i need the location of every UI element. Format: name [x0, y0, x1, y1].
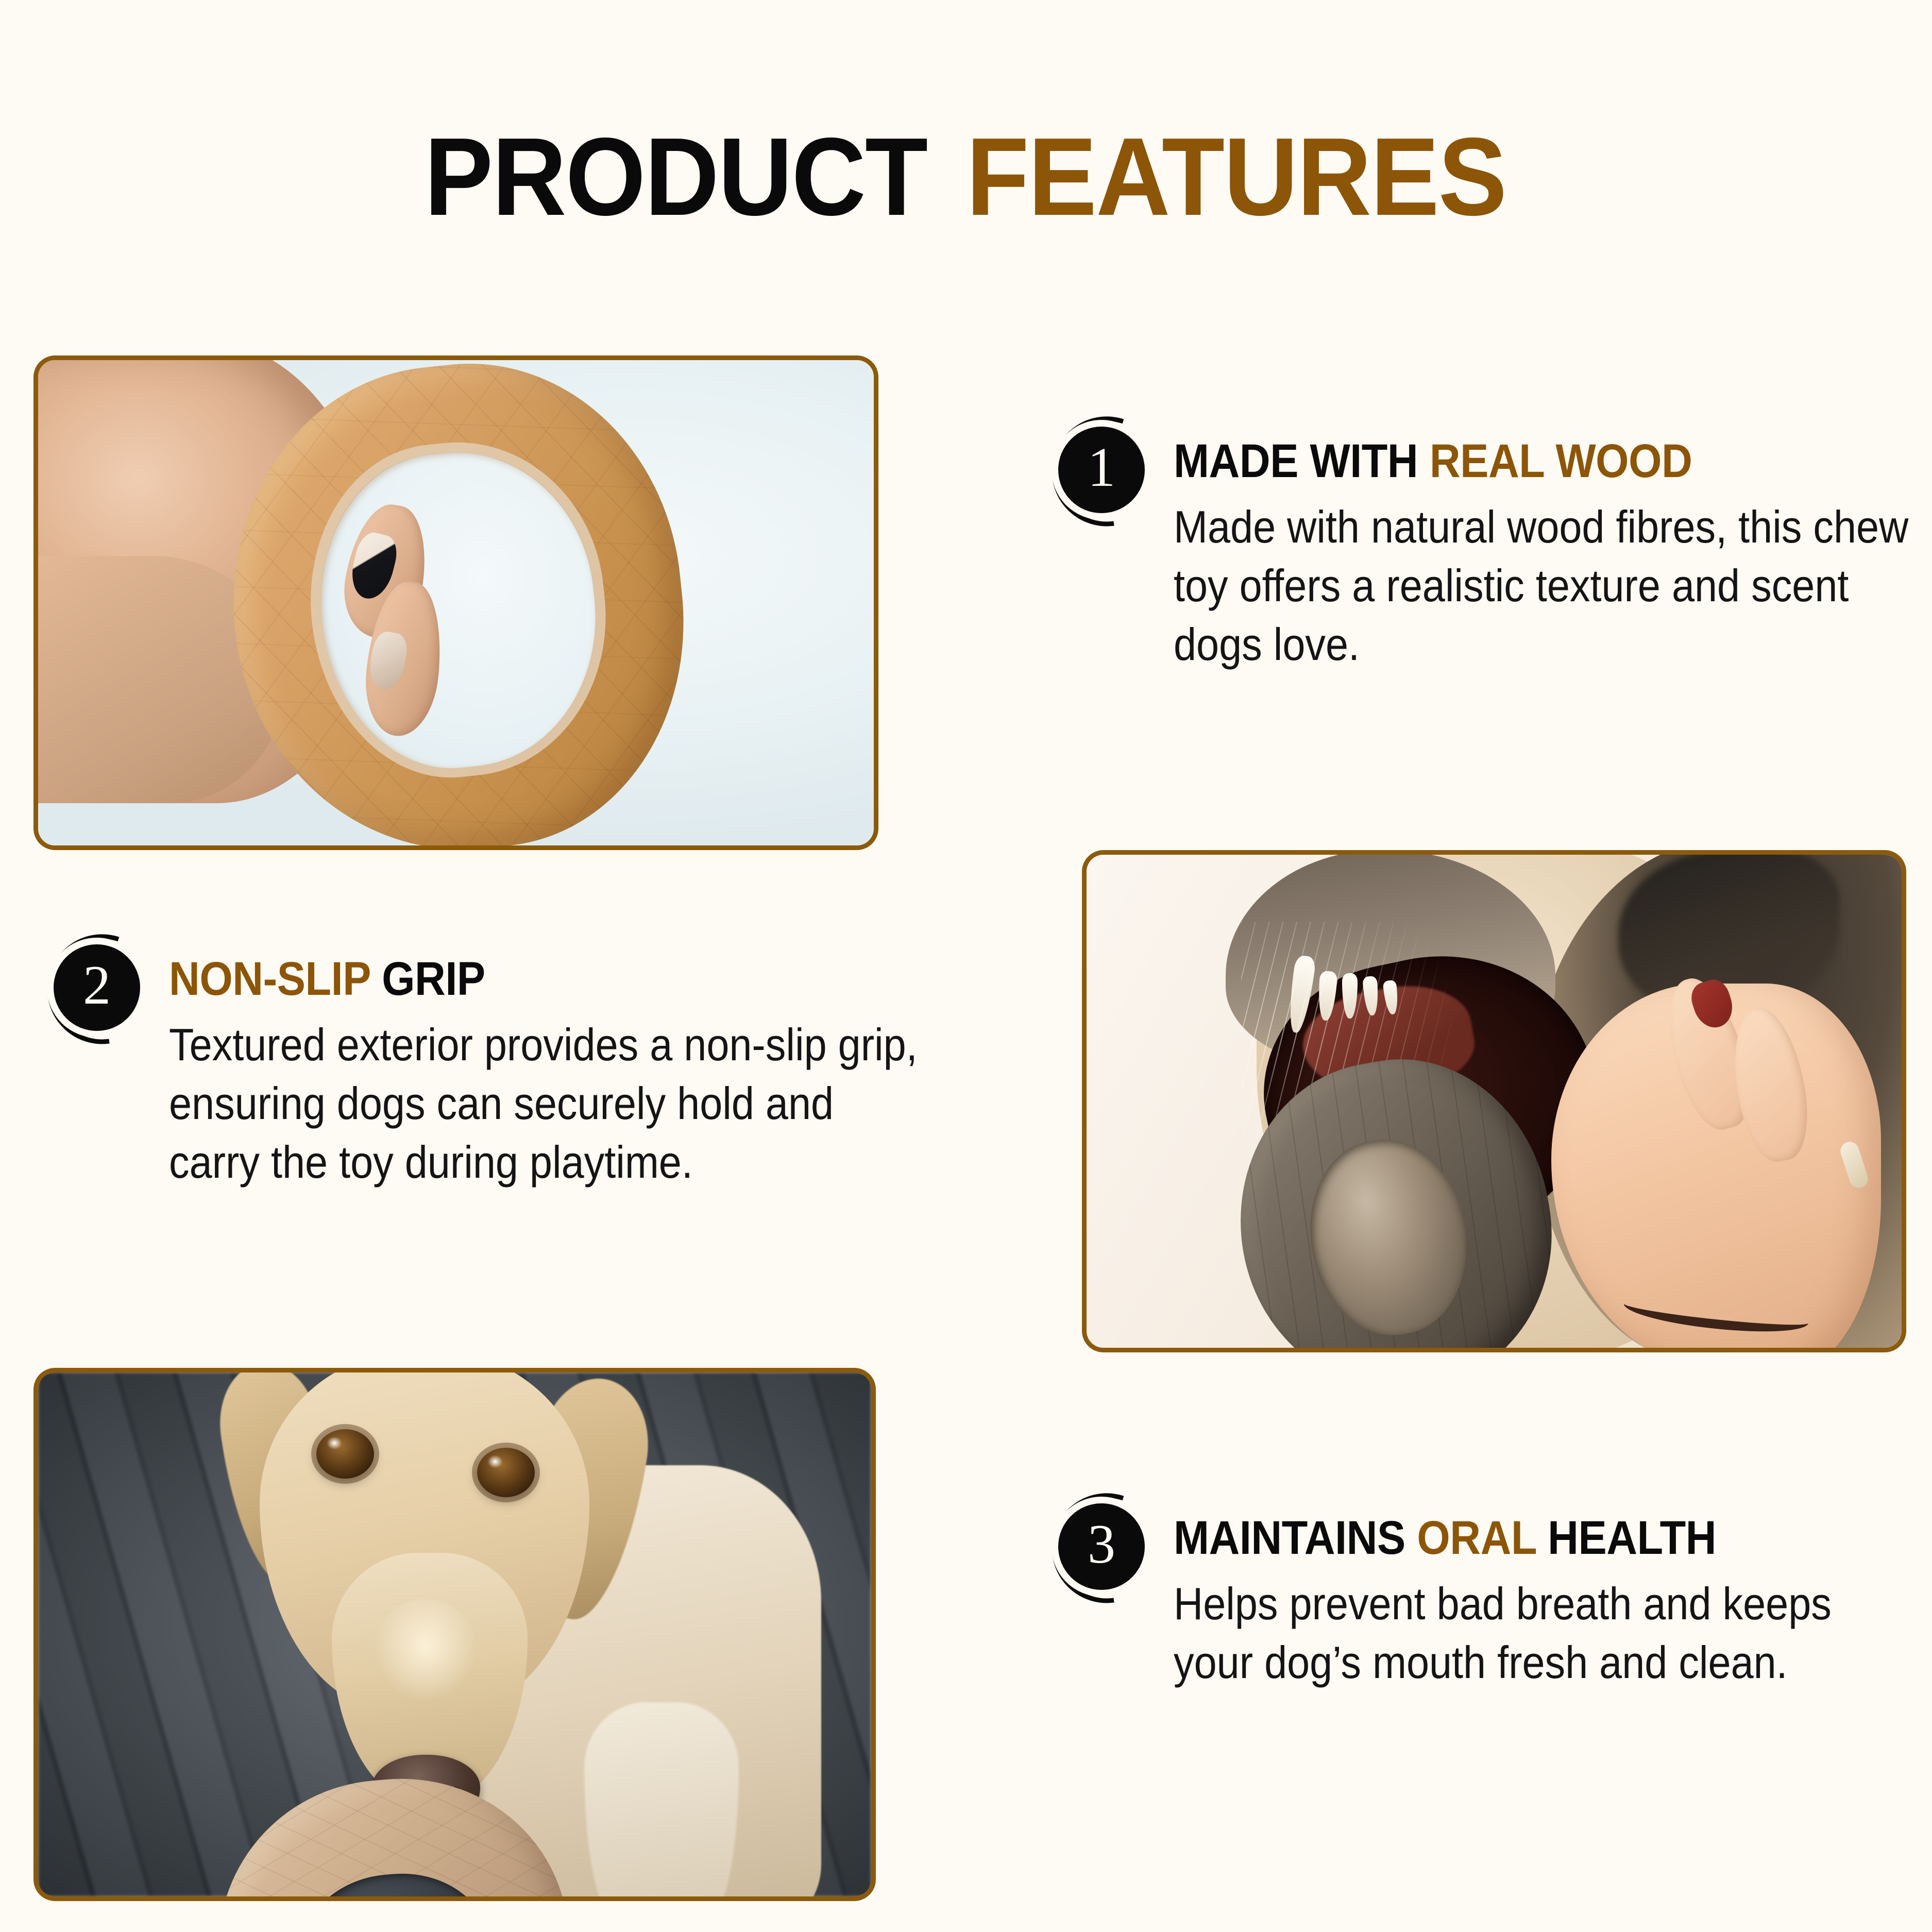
- feature-heading-2-part-a: NON-SLIP: [169, 953, 382, 1005]
- feature-heading-3-part-c: HEALTH: [1548, 1512, 1716, 1564]
- feature-heading-3-part-a: MAINTAINS: [1174, 1512, 1417, 1564]
- feature-heading-3: MAINTAINS ORAL HEALTH: [1174, 1494, 1838, 1563]
- feature-item-1: 1 MADE WITH REAL WOOD Made with natural …: [1036, 417, 1911, 674]
- feature-body-2: Textured exterior provides a non-slip gr…: [169, 1015, 928, 1192]
- feature-content-2: NON-SLIP GRIP Textured exterior provides…: [169, 935, 922, 1192]
- photo-ring-in-hand-content: [38, 360, 874, 845]
- photo-ring-in-hand: [33, 355, 878, 850]
- feature-badge-1: 1: [1036, 417, 1164, 546]
- photo-dog-biting-ring-content: [1087, 855, 1902, 1348]
- feature-item-3: 3 MAINTAINS ORAL HEALTH Helps prevent ba…: [1036, 1494, 1911, 1692]
- feature-body-3: Helps prevent bad breath and keeps your …: [1174, 1574, 1917, 1692]
- feature-heading-2: NON-SLIP GRIP: [169, 935, 847, 1004]
- dog-eye-right: [477, 1448, 535, 1497]
- badge-circle: 3: [1058, 1503, 1145, 1590]
- badge-number: 3: [1088, 1517, 1115, 1572]
- feature-content-1: MADE WITH REAL WOOD Made with natural wo…: [1174, 417, 1911, 674]
- eye-highlight: [487, 1455, 503, 1468]
- badge-number: 2: [83, 958, 111, 1013]
- badge-circle: 1: [1058, 427, 1145, 513]
- page-title-accent: FEATURES: [967, 121, 1506, 232]
- eye-highlight: [327, 1436, 342, 1450]
- feature-content-3: MAINTAINS ORAL HEALTH Helps prevent bad …: [1174, 1494, 1911, 1692]
- dog-snout-highlight: [374, 1599, 477, 1702]
- feature-badge-3: 3: [1036, 1494, 1164, 1623]
- feature-item-2: 2 NON-SLIP GRIP Textured exterior provid…: [31, 935, 922, 1192]
- feature-heading-2-part-b: GRIP: [382, 953, 485, 1005]
- photo-dog-carrying-ring: [33, 1368, 876, 1901]
- page-title: PRODUCT FEATURES: [0, 121, 1932, 232]
- feature-heading-1-part-b: REAL WOOD: [1430, 435, 1692, 487]
- dog-leg: [584, 1702, 739, 1896]
- feature-heading-1-part-a: MADE WITH: [1174, 435, 1430, 487]
- page-title-primary: PRODUCT: [425, 121, 927, 232]
- photo-dog-carrying-ring-content: [38, 1372, 871, 1896]
- badge-circle: 2: [54, 944, 140, 1031]
- photo-dog-biting-ring: [1082, 850, 1906, 1352]
- feature-heading-1: MADE WITH REAL WOOD: [1174, 417, 1838, 486]
- badge-number: 1: [1088, 440, 1115, 496]
- feature-heading-3-part-b: ORAL: [1417, 1512, 1548, 1564]
- feature-badge-2: 2: [31, 935, 160, 1064]
- feature-body-1: Made with natural wood fibres, this chew…: [1174, 498, 1917, 674]
- dog-eye-left: [316, 1429, 374, 1479]
